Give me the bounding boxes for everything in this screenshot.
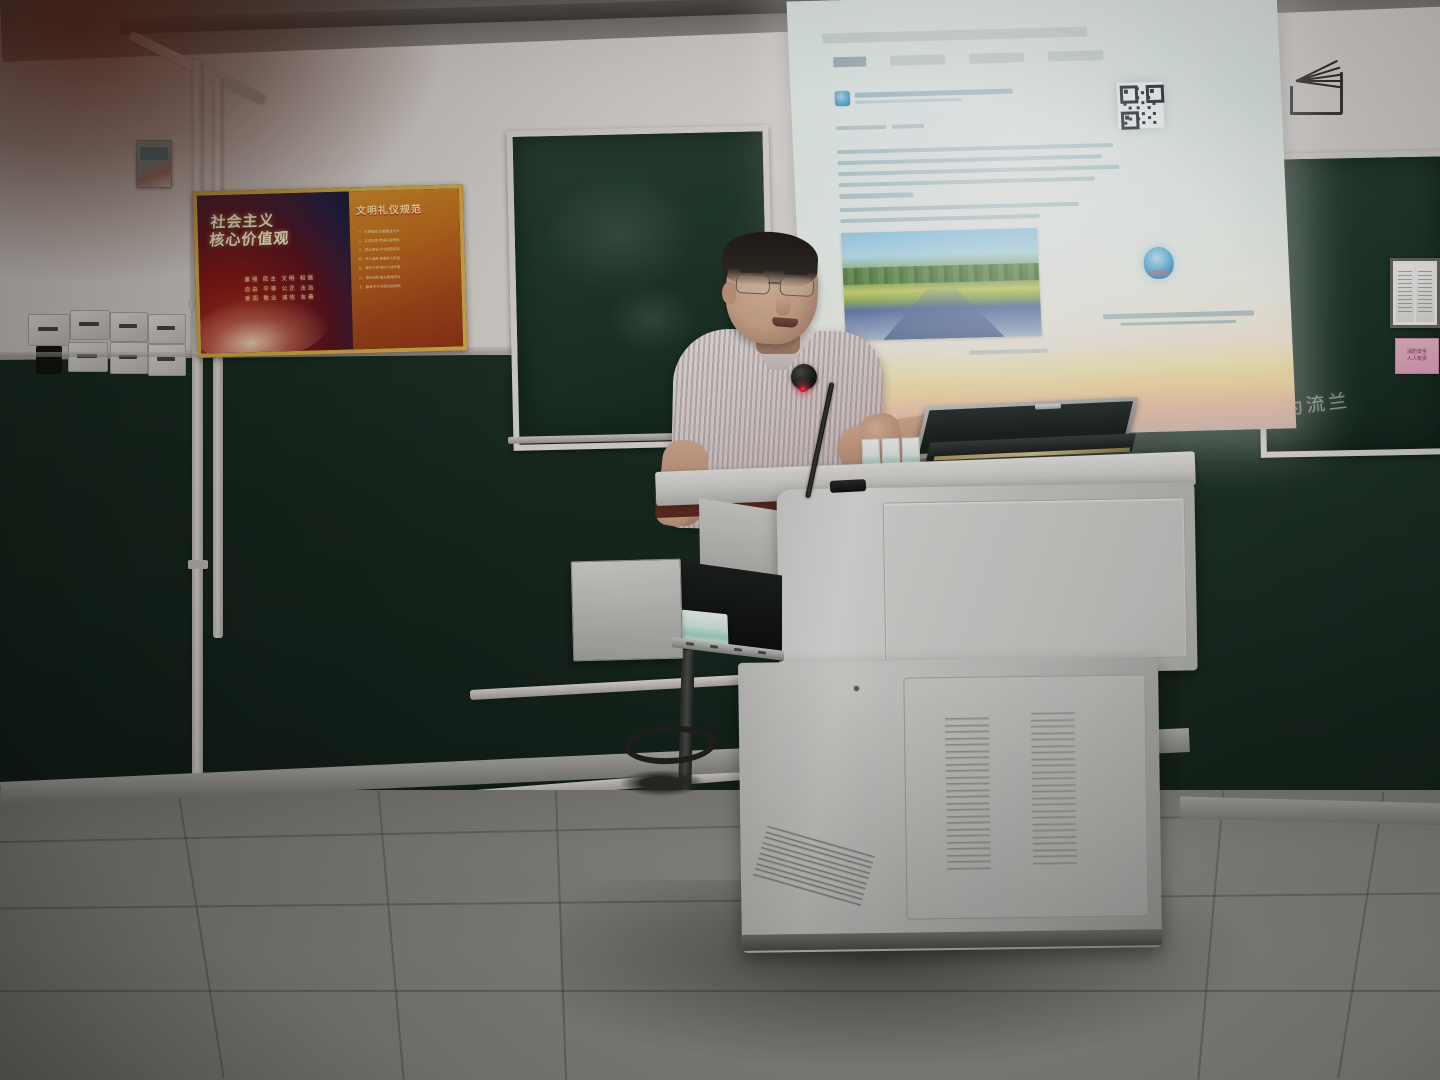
poster-title: 社会主义 核心价值观: [209, 211, 342, 251]
poster-right-line: 六、遵守纪律 服从管理安排: [359, 272, 454, 282]
slide-body-text: [837, 142, 1125, 230]
microphone-base: [830, 479, 867, 493]
wall-socket-cluster: [28, 310, 188, 378]
slide-header-bar: [822, 27, 1087, 44]
organization-logo-icon: [1143, 247, 1174, 280]
poster-right-line: 四、待人诚恳 尊重他人权益: [358, 254, 453, 264]
wall-outlet[interactable]: [148, 314, 186, 344]
account-avatar-icon: [835, 91, 851, 106]
notice-document: [1396, 264, 1414, 322]
conduit-pipe-vertical-1: [192, 60, 203, 820]
byline-date: [892, 124, 925, 129]
wall-junction-box: [136, 140, 172, 188]
chalk-smudge: [606, 283, 698, 355]
poster-title-line2: 核心价值观: [209, 229, 341, 251]
poster-right-line: 五、爱护公物 维护公共环境: [359, 263, 454, 273]
poster-right-line: 一、仪表端庄 衣着整洁大方: [357, 226, 452, 236]
wall-outlet[interactable]: [148, 344, 186, 376]
poster-right-panel: 文明礼仪规范 一、仪表端庄 衣着整洁大方 二、言谈文明 用语礼貌得体 三、举止得…: [349, 188, 463, 349]
body-line: [838, 154, 1102, 166]
ceiling-mount-bracket: [1290, 62, 1360, 114]
poster-left-panel: 社会主义 核心价值观 富强 民主 文明 和谐 自由 平等 公正 法治 爱国 敬业…: [197, 191, 353, 353]
cable-fan-icon: [1296, 70, 1342, 90]
wall-outlet[interactable]: [110, 342, 148, 374]
org-caption-line1: [1103, 311, 1254, 319]
wall-trim: [0, 352, 200, 357]
slide-byline-row: [836, 117, 984, 134]
chalk-smudge: [543, 173, 696, 296]
slide-tab: [1048, 50, 1103, 62]
conduit-pipe-vertical-2: [213, 78, 223, 638]
wall-outlet[interactable]: [68, 342, 108, 372]
slide-tab: [890, 54, 945, 66]
body-line: [837, 143, 1113, 155]
classroom-photo-scene: 社会主义 核心价值观 富强 民主 文明 和谐 自由 平等 公正 法治 爱国 敬业…: [0, 0, 1440, 1080]
projection-screen-assembly: [768, 0, 1299, 447]
wall-outlet[interactable]: [70, 310, 110, 340]
slide-photo-road-landscape: [841, 228, 1042, 341]
open-outlet-hole: [36, 346, 62, 374]
organization-caption: [1100, 310, 1257, 326]
body-line: [839, 192, 913, 199]
body-line: [840, 214, 1039, 224]
photo-road: [881, 287, 1005, 340]
wall-notice-frame: [1390, 258, 1440, 328]
account-subtitle: [855, 98, 962, 104]
junction-box-label: [140, 147, 168, 160]
poster-right-body: 一、仪表端庄 衣着整洁大方 二、言谈文明 用语礼貌得体 三、举止得当 行为规范有…: [357, 226, 453, 293]
projection-screen: [786, 0, 1296, 441]
podium-floor-shadow: [560, 880, 1260, 1070]
socialist-core-values-poster: 社会主义 核心价值观 富强 民主 文明 和谐 自由 平等 公正 法治 爱国 敬业…: [193, 184, 468, 357]
byline-text: [836, 125, 886, 130]
pink-sign-line1: 消防安全: [1407, 349, 1427, 357]
slide-tab: [969, 52, 1024, 64]
microphone-led-indicator: [799, 386, 807, 392]
body-line: [840, 201, 1079, 212]
poster-right-line: 二、言谈文明 用语礼貌得体: [358, 236, 453, 246]
notice-document: [1416, 264, 1434, 322]
body-line: [838, 165, 1120, 177]
wall-outlet[interactable]: [28, 314, 70, 346]
slide-account-row: [834, 77, 1110, 115]
body-line: [839, 176, 1095, 187]
screen-color-bands: [802, 340, 1296, 441]
account-name: [855, 89, 1013, 98]
account-name-block: [855, 87, 1110, 105]
poster-right-line: 三、举止得当 行为规范有序: [358, 245, 453, 255]
poster-right-line: 七、勤奋学习 刻苦钻研进取: [359, 281, 454, 291]
pipe-clamp: [188, 560, 208, 569]
qr-code-icon: [1116, 82, 1164, 129]
main-chalkboard: [506, 125, 775, 451]
photo-treeline: [843, 263, 1040, 285]
pink-safety-sign: 消防安全 人人有责: [1395, 338, 1439, 374]
wall-outlet[interactable]: [110, 312, 148, 342]
org-caption-line2: [1121, 319, 1237, 325]
pink-sign-line2: 人人有责: [1407, 356, 1427, 364]
slide-tab: [833, 56, 866, 67]
slide-header-tabs: [833, 44, 1103, 73]
poster-right-title: 文明礼仪规范: [356, 200, 453, 218]
